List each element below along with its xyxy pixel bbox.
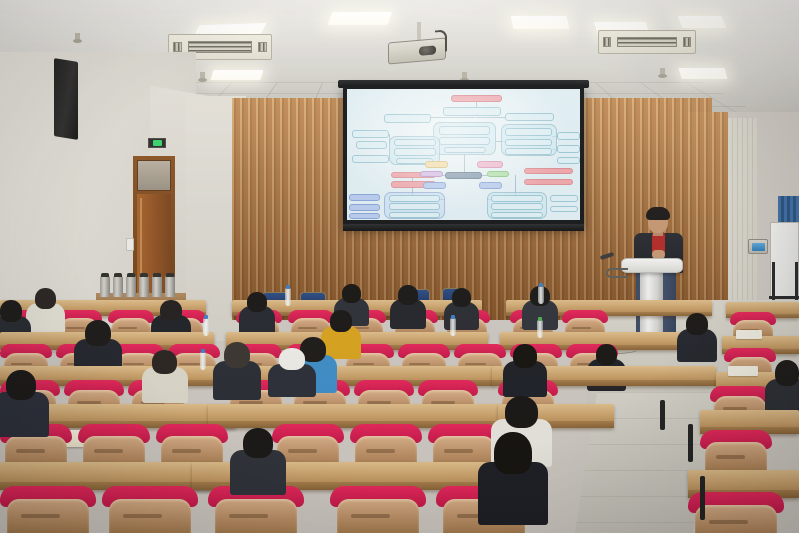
vacuum-flask: [139, 276, 149, 297]
slide-node-top-right: [505, 113, 554, 122]
slide-node-left-2: [356, 141, 386, 149]
audience-member: [452, 288, 471, 307]
slide-node-green: [487, 171, 509, 178]
screen-bottom-bar: [343, 224, 584, 231]
slide-node-right-3: [557, 157, 580, 164]
water-bottle: [450, 318, 456, 336]
slide-node-g1-a: [439, 126, 490, 135]
slide-node-gl-b: [394, 148, 436, 156]
slide-node-g1-b: [439, 137, 490, 145]
slide-node-gl-a: [394, 139, 436, 146]
slide-node-bl-side-1: [349, 194, 379, 201]
slide-node-purple: [420, 171, 442, 178]
audience-member: [330, 310, 352, 332]
projector-cable: [435, 29, 447, 52]
slide-node-g1-c: [444, 147, 486, 154]
audience-member: [596, 344, 617, 365]
slide-node-bl-side-3: [349, 213, 379, 219]
projector-lens: [419, 45, 436, 56]
slide-node-right-2: [557, 145, 580, 153]
av-control-panel[interactable]: [748, 239, 768, 254]
water-bottle: [538, 286, 544, 304]
presenter-hair: [646, 207, 670, 220]
sprinkler-head: [660, 68, 665, 77]
slide-edge: [476, 117, 506, 118]
auditorium-seat[interactable]: [330, 486, 426, 533]
slide-node-bl-side-2: [349, 204, 379, 211]
slide-node-blue: [423, 182, 446, 189]
water-bottle: [537, 320, 543, 338]
slide-node-top-left: [384, 114, 431, 123]
wall-speaker: [54, 58, 78, 140]
sprinkler-head: [75, 33, 80, 42]
slide-node-left-3: [352, 155, 389, 164]
panel-light: [328, 12, 393, 25]
audience-member: [247, 292, 267, 312]
slide-node-gr-c: [505, 148, 552, 155]
seat-leg: [660, 400, 665, 430]
slide-node-red-r2: [524, 179, 573, 186]
slide-node-pink: [477, 161, 503, 168]
ceiling-ac-cassette-right: [598, 30, 696, 54]
slide-node-gbr-a: [491, 195, 542, 202]
slide-node-gbl-b: [389, 203, 440, 210]
audience-member: [513, 344, 537, 368]
lecture-hall-photo: [0, 0, 799, 533]
slide-node-gbr-c: [491, 212, 542, 218]
audience-member: [85, 320, 111, 346]
baseball-cap: [279, 348, 305, 370]
audience-member: [505, 396, 538, 428]
paper-sheet: [736, 330, 762, 339]
mind-map-slide: [347, 89, 580, 220]
vacuum-flask: [152, 276, 162, 297]
slide-edge: [431, 117, 475, 118]
slide-node-left-1: [352, 130, 389, 139]
slide-node-orange: [425, 161, 448, 168]
slide-node-title: [451, 95, 502, 102]
audience-member: [398, 285, 418, 305]
lectern-side-arm: [606, 268, 628, 278]
auditorium-seat[interactable]: [0, 486, 96, 533]
audience-member: [686, 313, 708, 335]
slide-node-gbr-b: [491, 203, 542, 210]
slide-node-red-r1: [524, 168, 573, 175]
slide-node-gr-a: [505, 128, 552, 136]
water-bottle: [203, 318, 209, 336]
seat-leg: [688, 424, 693, 462]
slide-node-teal: [479, 182, 502, 189]
slide-node-br-side-2: [550, 206, 578, 213]
slide-node-top-sub: [443, 107, 501, 116]
water-bottle: [285, 288, 291, 306]
control-panel-screen[interactable]: [752, 243, 765, 251]
light-switch[interactable]: [126, 238, 134, 251]
panel-light: [678, 68, 727, 79]
audience-member: [0, 300, 22, 322]
seat-leg: [700, 476, 705, 520]
vacuum-flask: [165, 276, 175, 297]
slide-node-gbl-a: [389, 195, 440, 202]
paper-sheet: [728, 366, 758, 376]
audience-member: [279, 348, 305, 370]
slide-edge: [464, 155, 465, 172]
slide-node-right-1: [557, 132, 580, 140]
slide-node-center: [445, 172, 482, 180]
sprinkler-head: [200, 72, 205, 81]
audience-member: [243, 428, 273, 458]
audience-member: [224, 342, 250, 368]
lectern-top[interactable]: [621, 258, 683, 273]
panel-light: [678, 16, 727, 28]
vacuum-flask: [126, 276, 136, 297]
water-bottle: [200, 352, 206, 370]
audience-member: [494, 432, 532, 474]
door-transom-window: [137, 160, 171, 191]
vacuum-flask: [100, 276, 110, 297]
vacuum-flask: [113, 276, 123, 297]
projection-screen[interactable]: [343, 86, 584, 228]
slide-node-gr-b: [505, 139, 552, 146]
exit-sign: [148, 138, 166, 148]
auditorium-seat[interactable]: [102, 486, 198, 533]
audience-member: [6, 370, 36, 400]
whiteboard-base: [769, 296, 799, 299]
audience-member: [160, 300, 182, 321]
panel-light: [511, 16, 570, 29]
panel-light: [210, 70, 263, 80]
slide-node-gbl-c: [389, 212, 440, 218]
audience-member: [35, 288, 56, 309]
exit-cross-icon: [153, 140, 162, 146]
slide-node-br-side-1: [550, 195, 578, 202]
audience-member: [775, 360, 799, 386]
audience-member: [152, 350, 177, 374]
audience-member: [342, 284, 361, 303]
